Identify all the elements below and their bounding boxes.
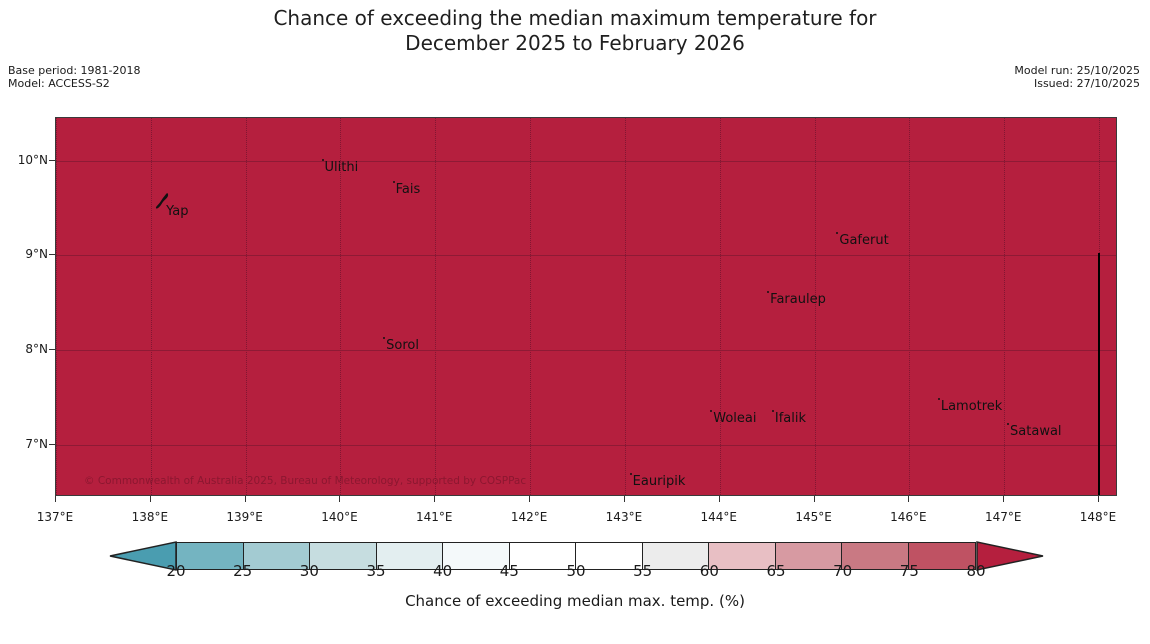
colorbar-tick-label: 70 — [833, 562, 852, 580]
place-marker — [710, 410, 712, 412]
gridline-vertical — [1004, 118, 1005, 495]
place-marker — [383, 337, 385, 339]
colorbar-tick-label: 20 — [166, 562, 185, 580]
header-right-block: Model run: 25/10/2025 Issued: 27/10/2025 — [1014, 64, 1140, 90]
x-axis-tick-label: 148°E — [1080, 510, 1117, 524]
x-axis-tick — [814, 496, 815, 502]
x-axis-tick-label: 144°E — [701, 510, 738, 524]
place-marker — [630, 473, 632, 475]
chart-title: Chance of exceeding the median maximum t… — [0, 6, 1150, 56]
place-label: Ulithi — [325, 160, 359, 175]
place-marker — [938, 398, 940, 400]
y-axis-tick — [49, 160, 55, 161]
colorbar-title: Chance of exceeding median max. temp. (%… — [0, 592, 1150, 610]
x-axis-tick — [434, 496, 435, 502]
colorbar-tick-label: 55 — [633, 562, 652, 580]
colorbar-tick-label: 30 — [300, 562, 319, 580]
colorbar-tick-label: 25 — [233, 562, 252, 580]
x-axis-tick — [908, 496, 909, 502]
map-panel[interactable]: © Commonwealth of Australia 2025, Bureau… — [55, 117, 1117, 496]
place-label: Woleai — [713, 411, 756, 426]
x-axis-tick-label: 140°E — [321, 510, 358, 524]
colorbar-tick-label: 45 — [500, 562, 519, 580]
y-axis-tick — [49, 254, 55, 255]
y-axis-tick-label: 9°N — [0, 247, 48, 261]
x-axis-tick-label: 142°E — [511, 510, 548, 524]
x-axis-tick-label: 143°E — [606, 510, 643, 524]
gridline-horizontal — [56, 350, 1116, 351]
gridline-vertical — [56, 118, 57, 495]
x-axis-tick-label: 146°E — [890, 510, 927, 524]
place-marker — [772, 410, 774, 412]
x-axis-tick-label: 141°E — [416, 510, 453, 524]
colorbar-tick-label: 40 — [433, 562, 452, 580]
y-axis-tick-label: 10°N — [0, 153, 48, 167]
x-axis-tick-label: 139°E — [226, 510, 263, 524]
place-marker — [322, 159, 324, 161]
gridline-vertical — [625, 118, 626, 495]
x-axis-tick — [150, 496, 151, 502]
colorbar-over-arrow — [976, 541, 1046, 571]
gridline-vertical — [435, 118, 436, 495]
x-axis-tick — [55, 496, 56, 502]
place-marker — [393, 181, 395, 183]
place-label: Fais — [396, 182, 421, 197]
issued-text: Issued: 27/10/2025 — [1014, 77, 1140, 90]
base-period-text: Base period: 1981-2018 — [8, 64, 140, 77]
place-label: Eauripik — [633, 474, 686, 489]
gridline-vertical — [909, 118, 910, 495]
gridline-vertical — [151, 118, 152, 495]
colorbar-tick-label: 80 — [966, 562, 985, 580]
colorbar-tick-label: 65 — [766, 562, 785, 580]
place-marker — [836, 232, 838, 234]
gridline-vertical — [530, 118, 531, 495]
x-axis-tick — [1098, 496, 1099, 502]
colorbar-tick-label: 75 — [900, 562, 919, 580]
y-axis-tick-label: 7°N — [0, 437, 48, 451]
gridline-vertical — [720, 118, 721, 495]
colorbar-tick-label: 50 — [566, 562, 585, 580]
place-marker — [1007, 423, 1009, 425]
x-axis-tick — [529, 496, 530, 502]
x-axis-tick — [339, 496, 340, 502]
gridline-horizontal — [56, 445, 1116, 446]
place-label: Yap — [166, 204, 188, 219]
x-axis-tick-label: 145°E — [795, 510, 832, 524]
model-run-text: Model run: 25/10/2025 — [1014, 64, 1140, 77]
header-left-block: Base period: 1981-2018 Model: ACCESS-S2 — [8, 64, 140, 90]
model-text: Model: ACCESS-S2 — [8, 77, 140, 90]
coastline-segment — [1098, 253, 1100, 496]
x-axis-tick-label: 138°E — [132, 510, 169, 524]
place-label: Sorol — [386, 338, 419, 353]
y-axis-tick — [49, 349, 55, 350]
gridline-horizontal — [56, 161, 1116, 162]
place-label: Ifalik — [775, 411, 806, 426]
y-axis-tick — [49, 444, 55, 445]
colorbar-tick-label: 35 — [366, 562, 385, 580]
x-axis-tick — [245, 496, 246, 502]
place-label: Satawal — [1010, 424, 1062, 439]
colorbar-tick-label: 60 — [700, 562, 719, 580]
y-axis-tick-label: 8°N — [0, 342, 48, 356]
place-label: Faraulep — [770, 292, 826, 307]
place-marker — [767, 291, 769, 293]
x-axis-tick-label: 137°E — [37, 510, 74, 524]
x-axis-tick — [624, 496, 625, 502]
x-axis-tick — [719, 496, 720, 502]
place-label: Lamotrek — [941, 399, 1003, 414]
x-axis-tick — [1003, 496, 1004, 502]
place-label: Gaferut — [839, 233, 888, 248]
gridline-vertical — [246, 118, 247, 495]
x-axis-tick-label: 147°E — [985, 510, 1022, 524]
gridline-horizontal — [56, 255, 1116, 256]
